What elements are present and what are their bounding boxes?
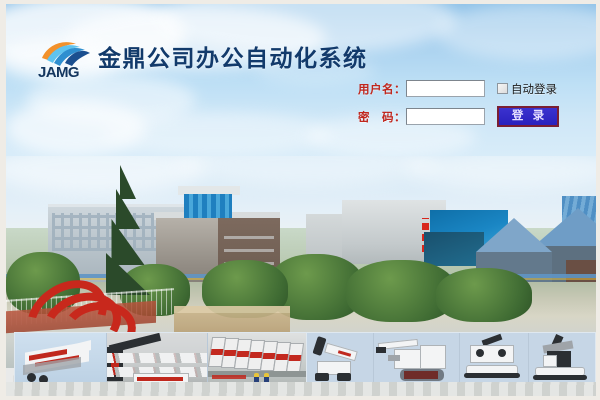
auto-login-label: 自动登录 [511,81,557,97]
company-logo: JAMG [38,38,96,80]
svg-text:JAMG: JAMG [38,64,79,80]
tree [436,268,532,322]
haze-decoration [176,156,436,186]
haze-decoration [406,156,596,190]
username-input[interactable] [406,80,485,97]
username-label: 用户名： [358,81,406,97]
password-row: 密 码： 登 录 [358,106,573,127]
page-frame: JAMG 金鼎公司办公自动化系统 用户名： 自动登录 密 码： 登 录 [6,4,596,396]
password-label: 密 码： [358,109,406,125]
username-row: 用户名： 自动登录 [358,78,573,99]
auto-login-checkbox-group[interactable]: 自动登录 [497,81,557,97]
header-sky-banner: JAMG 金鼎公司办公自动化系统 用户名： 自动登录 密 码： 登 录 [6,4,596,156]
login-submit-button[interactable]: 登 录 [497,106,559,127]
roof-peak [476,218,552,252]
login-page: JAMG 金鼎公司办公自动化系统 用户名： 自动登录 密 码： 登 录 [0,0,600,400]
building-dark-glass [424,232,484,266]
auto-login-checkbox[interactable] [497,83,508,94]
campus-photo [6,156,596,396]
cloud-decoration [6,100,146,156]
password-input[interactable] [406,108,485,125]
page-title: 金鼎公司办公自动化系统 [98,43,368,73]
cloud-decoration [436,4,596,60]
conifer-tree [82,162,174,288]
login-form: 用户名： 自动登录 密 码： 登 录 [358,78,573,127]
bottom-pavement-strip [6,382,596,396]
